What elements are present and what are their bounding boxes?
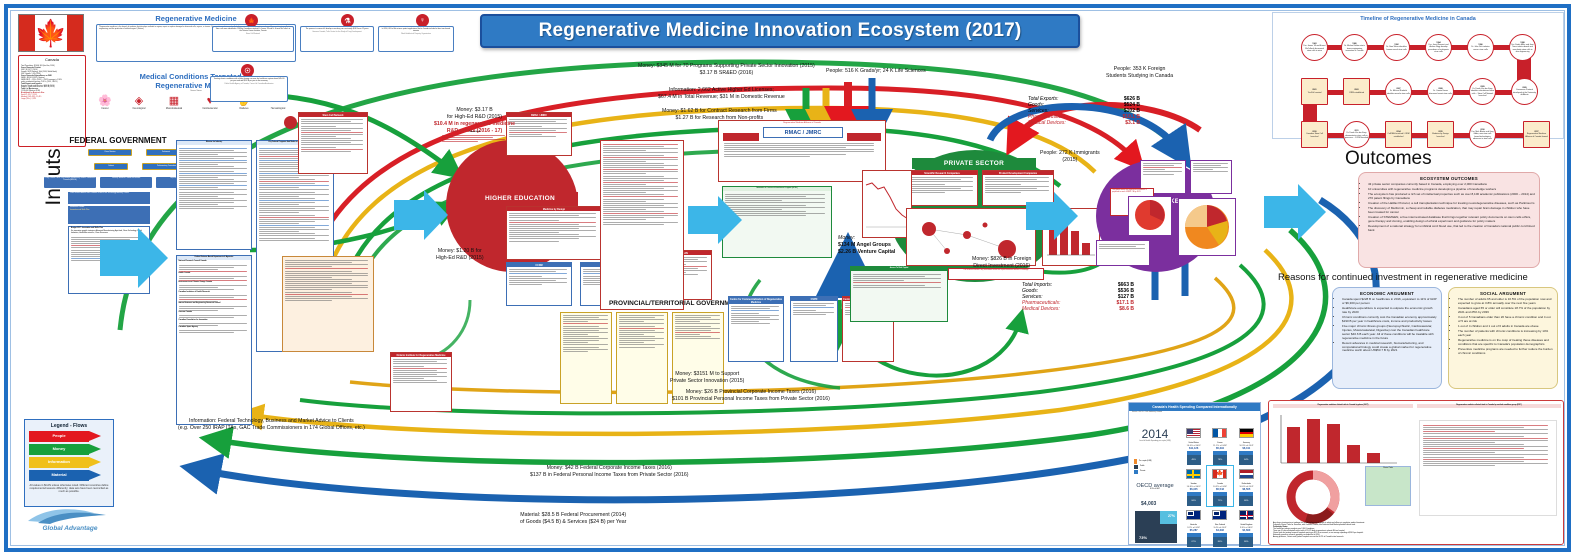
global-markets-note-bottom [1096, 240, 1150, 266]
flow-label-grads: People: 516 K Grads/yr; 24 K Life Scienc… [826, 68, 926, 75]
canada-flag-small-icon: 🍁 [1212, 469, 1227, 479]
timeline-node-1994: 1994 Drs. Janet Rossant and Andras Nagy … [1425, 34, 1452, 61]
trials-bar-chart [1273, 411, 1405, 469]
rmac-subtitle: Regenerative Medicine Alliance of Canada [719, 122, 885, 124]
flow-label-federal-taxes: Money: $42 B Federal Corporate Income Ta… [530, 465, 689, 479]
global-advantage-logo: Global Advantage [24, 505, 116, 539]
org-node-treasury-board: Treasury Board of Canada Secretariat [100, 177, 152, 188]
public-swatch [1134, 465, 1138, 469]
inputs-arrow-icon [98, 228, 170, 290]
flow-label-federal-advice: Information: Federal Technology, Busines… [178, 418, 365, 432]
timeline-node-2008: 2008 Dr. Connie Eaves discovers breast s… [1427, 78, 1454, 105]
flow-label-high-ed-rd-2: Money: $1.20 B for High-Ed R&D (2015) [436, 248, 484, 262]
condition-musculoskeletal: ▦ Musculoskeletal [156, 96, 192, 110]
medicine-by-design-card: Medicine by Design [506, 206, 602, 260]
condition-cancer: 🌸 Cancer [88, 96, 122, 110]
timeline-node-2011: 2011 Dr. Derek Van der Kooy demonstrates… [1343, 121, 1370, 148]
federal-government-heading: FEDERAL GOVERNMENT [44, 136, 192, 145]
org-node-prime-minister: Prime Minister [88, 149, 132, 156]
private-sector-callout: Life sciences remain a key investment se… [948, 268, 1044, 280]
oecd-public-pct: 73% [1139, 535, 1147, 540]
dashboard-left-title: Regenerative medicine clinical trials in… [1273, 404, 1413, 408]
fact-source: World Intellectual Property Organization [381, 34, 451, 36]
university-list-lines [601, 141, 683, 228]
health-spending-panel: Canada's Health Spending Compared Intern… [1128, 402, 1261, 545]
timeline-node-2010: 2010 Canadian Stem Cell launched [1301, 121, 1328, 148]
flow-label-provincial-taxes: Money: $26 B Provincial Corporate Income… [672, 389, 830, 403]
fact-source: Public Health Agency of Canada; Council … [213, 84, 285, 86]
small-pie-icon [1129, 197, 1171, 235]
health-panel-source: Source: OECD / CIHI / Advisory Canada [1129, 411, 1260, 415]
timeline-node-2009a: 2009 Dr. Derek Van der Kooy identifies s… [1469, 78, 1496, 105]
sweden-flag-icon [1186, 469, 1201, 479]
stem-cell-network-card: Stem Cell Network [298, 112, 368, 174]
rmac-accent-left [723, 133, 759, 141]
timeline-node-1992: 1992 Dr. Sam Weiss identifies human neur… [1383, 34, 1410, 61]
uk-flag-icon [1239, 510, 1254, 520]
country-cell-us: United States 16.6% of GDP $11,126 49% [1181, 425, 1206, 465]
timeline-node-2016: 2016 Drs. Mick Bhatia and Gary Gibbs, ne… [1469, 121, 1496, 148]
brain-icon: ◈ [122, 96, 156, 107]
infographic-poster: 🍁 Regenerative Medicine “Regenerative me… [0, 0, 1575, 556]
bone-icon: ▦ [156, 96, 192, 107]
flow-label-foreign-students: People: 353 K Foreign Students Studying … [1106, 66, 1173, 80]
center-arrow-icon [392, 190, 450, 242]
legend-item-information: Information [29, 457, 109, 468]
legend-title: Legend - Flows [25, 423, 113, 429]
condition-label: Cardiovascular [192, 108, 228, 110]
pie-chart-svg [1179, 199, 1235, 255]
ccrm-commercialization-card: Centre for Commercialization of Regenera… [728, 296, 784, 362]
org-node-cabinet: Cabinet [94, 163, 128, 170]
university-list-panel [600, 140, 684, 310]
economic-argument-panel: ECONOMIC ARGUMENT Canada spent $228 B on… [1332, 287, 1442, 389]
private-swatch [1134, 470, 1138, 474]
country-cell-germany: Germany 10.9% of GDP $6,311 84% [1234, 425, 1259, 465]
canada-flag-icon: 🍁 [18, 14, 84, 52]
condition-neurological: ◈ Neurological [122, 96, 156, 110]
country-grid: United States 16.6% of GDP $11,126 49% F… [1181, 425, 1259, 547]
fact-card-stemcells: Stem cells were identified in 1963 by Ca… [212, 26, 294, 52]
country-cell-australia: Australia 9.2% of GDP $5,287 67% [1181, 507, 1206, 547]
minister-industry-panel: Minister for Industry [176, 140, 252, 250]
logo-text: Global Advantage [24, 525, 116, 532]
related-fields-title: Related fields [442, 132, 508, 134]
country-cell-newzealand: New Zealand 9.4% of GDP $4,392 80% [1207, 507, 1232, 547]
timeline-node-2009b: 2009 Consensus Protocol developed at the… [1511, 78, 1538, 105]
fact-card-drugcost: The process to research & develop a new … [300, 26, 374, 52]
global-market-card-2 [1190, 160, 1232, 194]
cspd-card: CSPD [790, 296, 838, 362]
australia-flag-icon [1186, 510, 1201, 520]
timeline-node-1998: 1998 Drs. Freda Miller and Jean Toma iso… [1509, 34, 1536, 61]
person-icon [1134, 459, 1137, 464]
scn-logo-icon [284, 116, 297, 129]
oecd-pct: 8.9% of GDP [1131, 489, 1179, 491]
rmac-jmrc-panel: Regenerative Medicine Alliance of Canada… [718, 120, 886, 182]
germany-flag-icon [1239, 428, 1254, 438]
oecd-treemap: 27% 73% [1135, 511, 1177, 543]
private-sector-line-chart [862, 170, 912, 238]
funding-profile-panel [282, 256, 374, 352]
outcomes-arrow-icon [1262, 184, 1328, 242]
flow-label-angel-vc: Money: $134 M Angel Groups $2.26 B Ventu… [838, 235, 895, 256]
federal-science-panel: Federal Science Based Departments & Agen… [176, 255, 252, 425]
health-panel-title: Canada's Health Spending Compared Intern… [1129, 403, 1260, 411]
provincial-card-1 [560, 312, 612, 404]
condition-label: Cancer [88, 108, 122, 110]
oecd-value: $4,003 [1141, 501, 1156, 507]
country-cell-uk: United Kingdom 9.9% of GDP $4,690 80% [1234, 507, 1259, 547]
health-legend: Per capita (US$) Public Private [1134, 459, 1176, 474]
canada-stats-body: Total Population: $1,466,163 (Jan/Jun, 2… [21, 66, 83, 101]
canada-stats-title: Canada [19, 57, 85, 62]
legend-item-material: Material [29, 470, 109, 481]
reasons-heading: Reasons for continued investment in rege… [1278, 272, 1528, 283]
health-year-caption: Level of Health Spending per capita (US$… [1133, 441, 1177, 443]
ribbon-icon: 🌸 [88, 96, 122, 107]
oirm-card: Ontario Institute for Regenerative Medic… [390, 352, 452, 412]
france-flag-icon [1212, 428, 1227, 438]
center-arrow-3-icon [1024, 192, 1080, 242]
legend-note: All values in $CAN unless otherwise note… [29, 484, 109, 494]
condition-label: Neurological [122, 108, 156, 110]
timeline-node-2017: 2017 Regenerative Medicine Alliance of C… [1523, 121, 1550, 148]
timeline-node-2001: 2001 TrialCell created [1301, 78, 1328, 105]
us-flag-icon [1186, 428, 1201, 438]
access-to-risk-capital-card: Access To Risk Capital [850, 266, 948, 322]
timeline-connector-row2 [1303, 90, 1531, 95]
funding-profile-lines [283, 257, 373, 304]
global-markets-pie-small [1128, 196, 1172, 236]
page-title: Regenerative Medicine Innovation Ecosyst… [480, 14, 1080, 48]
ccrm-card: CCRM [506, 262, 572, 306]
flow-label-federal-programs: Money: $345 M for 70 Programs Supporting… [638, 63, 815, 77]
timeline-node-1963: 1963 Drs. James Till and Ernest McCulloc… [1301, 34, 1328, 61]
social-argument-panel: SOCIAL ARGUMENT The number of adults 65 … [1448, 287, 1558, 389]
newzealand-flag-icon [1212, 510, 1227, 520]
timeline-node-2014: 2014 CellCAN launched / OIRM established [1385, 121, 1412, 148]
country-cell-sweden: Sweden 10.8% of GDP $6,345 84% [1181, 466, 1206, 506]
timeline-node-1996: 1996 Dr. John Dick isolates cancer stem … [1467, 34, 1494, 61]
condition-label: Diabetes [228, 108, 260, 110]
hub-label-private-sector: PRIVATE SECTOR [912, 158, 1036, 169]
minister-panel-lines [177, 145, 251, 212]
social-argument-list: The number of adults 65 and older is 16.… [1449, 298, 1557, 356]
fact-card-patents: In 2016, 40% of life-science patent appl… [378, 26, 454, 52]
ecosystem-outcomes-list: 43 private sector companies currently ba… [1359, 183, 1539, 233]
flow-label-licenses: Information: 2,662 Active Higher Ed Lice… [658, 87, 785, 101]
fact-card-chronic: Treating chronic conditions with cellula… [210, 76, 288, 102]
condition-label: Musculoskeletal [156, 108, 192, 110]
logo-swoosh-icon [24, 505, 116, 525]
flow-label-provincial-innovation: Money: $3151 M to Support Private Sector… [670, 371, 744, 385]
timeline-node-1980: 1980 Dr. Michael Sefton starts tissue en… [1341, 34, 1368, 61]
timeline-title: Timeline of Regenerative Medicine in Can… [1273, 13, 1563, 24]
fact-source: Genome Canada; Tufts Center for the Stud… [303, 32, 371, 34]
fact-source: Stem Cell Network [215, 34, 291, 36]
center-arrow-2-icon [686, 196, 744, 246]
outcomes-label: Outcomes [1345, 148, 1432, 170]
rmac-accent-right [847, 133, 881, 141]
flow-label-immigrants: People: 272 K Immigrants (2015) [1040, 150, 1100, 164]
ecosystem-outcomes-panel: ECOSYSTEM OUTCOMES 43 private sector com… [1358, 172, 1540, 268]
rm-related-fields-table: Related fields [442, 132, 508, 154]
legend-item-people: People [29, 431, 109, 442]
regenerative-medicine-heading: Regenerative Medicine [96, 14, 296, 23]
global-market-pie-card [1178, 198, 1236, 256]
trials-donut-chart [1277, 470, 1357, 524]
condition-label: Hematological [260, 108, 296, 110]
health-year: 2014 [1133, 427, 1177, 441]
netherlands-flag-icon [1239, 469, 1254, 479]
timeline-panel: Timeline of Regenerative Medicine in Can… [1272, 12, 1564, 139]
scientific-research-companies-card: Scientific Research Companies [906, 170, 978, 206]
hub-label-higher-education: HIGHER EDUCATION [462, 192, 578, 205]
legend: Legend - Flows People Money Information … [24, 419, 114, 507]
legend-item-money: Money [29, 444, 109, 455]
condition-breakdown-chart [1419, 420, 1557, 516]
provincial-card-2 [616, 312, 668, 404]
dashboard-footer-notes: Any drug or treatment must undergo the f… [1273, 523, 1561, 539]
line-chart-svg [863, 171, 911, 237]
flow-label-procurement: Material: $28.5 B Federal Procurement (2… [520, 512, 626, 526]
country-cell-netherlands: Netherlands 10.6% of GDP $6,505 80% [1234, 466, 1259, 506]
timeline-node-2015: 2015 Medicine by Design launched [1427, 121, 1454, 148]
org-node-pco: Privy Council Office / Key Boards and Ad… [44, 177, 96, 188]
economic-argument-list: Canada spent $228 B on healthcare in 201… [1333, 298, 1441, 353]
dashboard-right-title: Regenerative medicine clinical trials in… [1417, 404, 1561, 408]
science-agency-list: National Research Council Canada Health … [177, 260, 251, 336]
country-cell-france: France 11.1% of GDP $5,394 78% [1207, 425, 1232, 465]
timeline-node-2003: 2003 CIRM established [1343, 78, 1370, 105]
higher-ed-stats-card: RMAC / JMRC [506, 112, 572, 156]
rmac-jmrc-logo: RMAC / JMRC [763, 127, 843, 138]
flow-label-fdi: Money: $826 B in Foreign Direct Investme… [972, 256, 1031, 270]
timeline-node-2007: 2007 Dr. Michael Rudnicki identifies mus… [1385, 78, 1412, 105]
page-title-text: Regenerative Medicine Innovation Ecosyst… [539, 20, 1022, 42]
clinical-trials-dashboard: Regenerative medicine clinical trials in… [1268, 400, 1564, 545]
flow-label-contract-research: Money: $1.62 B for Contract Research fro… [662, 108, 777, 122]
imports-table: Total Imports: $663 B Goods: $536 B Serv… [1022, 282, 1134, 312]
oecd-private-pct: 27% [1168, 514, 1175, 518]
country-cell-canada: 🍁 Canada 10.3% of GDP $5,543 71% [1207, 466, 1232, 506]
note-text: The global market for regenerative medic… [1111, 189, 1153, 195]
blue-block-innovation-canada: Innovation Canada Innovation and Skills … [68, 206, 150, 224]
clinical-trials-badge: Clinical Trials [1365, 466, 1411, 506]
exports-table: Total Exports: $626 B Goods: $524 B Serv… [1028, 96, 1140, 126]
blue-block-chief-science-advisor: Chief Science Advisor and Canadian Scien… [68, 192, 150, 204]
